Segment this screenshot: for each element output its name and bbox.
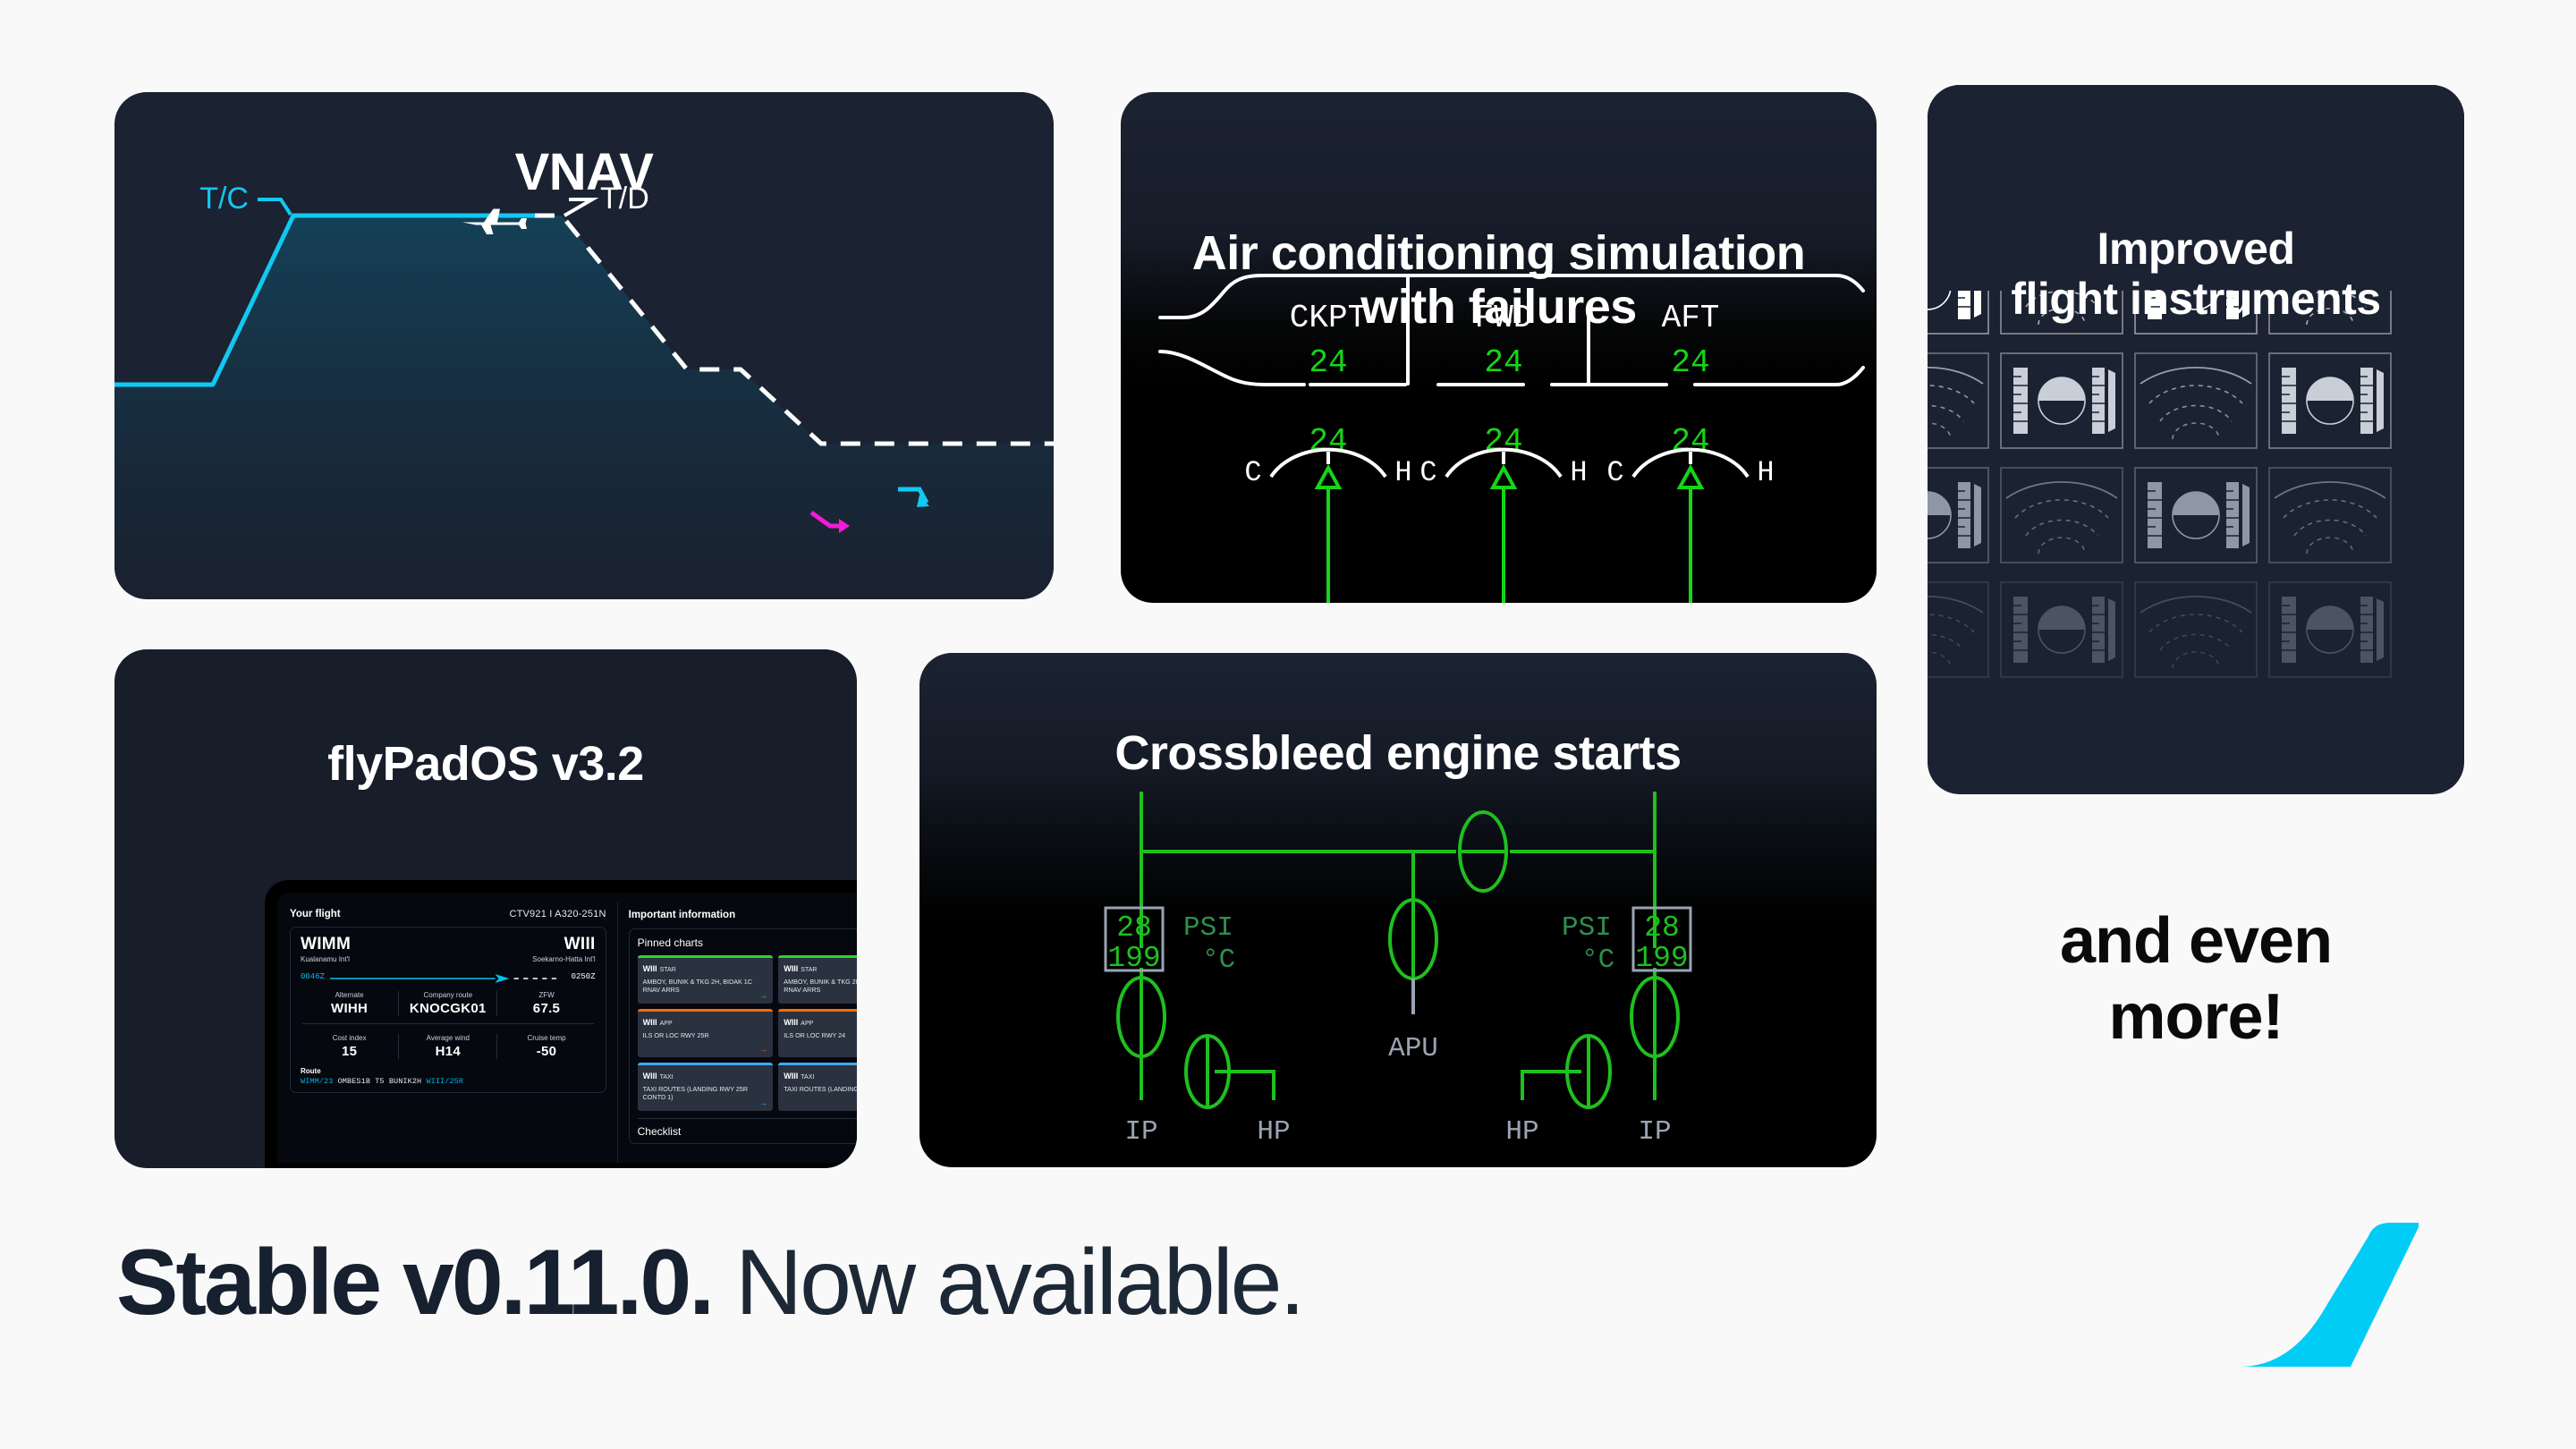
chart-color-bar bbox=[778, 1009, 857, 1012]
chart-card[interactable]: WIIIAPP ILS OR LOC RWY 24 → bbox=[778, 1009, 857, 1057]
route-part-destination: WIII/25R bbox=[426, 1077, 463, 1086]
unit-temp-left: °C bbox=[1202, 945, 1235, 976]
chart-description: TAXI ROUTES (LANDING RWY 24) bbox=[784, 1085, 857, 1093]
chart-icao: WIII bbox=[643, 964, 657, 973]
tablet-device: Your flight CTV921 I A320-251N WIMM Kual… bbox=[265, 880, 857, 1168]
vnav-area-fill bbox=[114, 216, 1054, 599]
chart-arrow-icon: → bbox=[759, 992, 767, 1000]
chart-icao: WIII bbox=[643, 1072, 657, 1080]
flybywire-tail-logo bbox=[2236, 1216, 2424, 1373]
chart-heading: WIIISTAR bbox=[643, 960, 768, 976]
card-flypad: flyPadOS v3.2 Your flight CTV921 I A320-… bbox=[114, 649, 857, 1168]
stat-cruise-temp: Cruise temp -50 bbox=[497, 1034, 595, 1059]
important-information-header: Important information ✎ bbox=[629, 909, 857, 921]
engine-bleed-valve-right bbox=[1631, 978, 1678, 1056]
chart-icao: WIII bbox=[784, 1072, 798, 1080]
stat-zfw-value: 67.5 bbox=[497, 1001, 595, 1016]
stat-zfw-label: ZFW bbox=[497, 991, 595, 999]
pinned-charts-header: Pinned charts View page bbox=[638, 936, 857, 949]
chart-icao: WIII bbox=[784, 1018, 798, 1027]
and-even-more-line2: more! bbox=[1928, 979, 2464, 1055]
stat-average-wind-value: H14 bbox=[399, 1044, 496, 1059]
chart-icao: WIII bbox=[643, 1018, 657, 1027]
chart-card[interactable]: WIIITAXI TAXI ROUTES (LANDING RWY 24) → bbox=[778, 1063, 857, 1111]
checklist-title: Checklist bbox=[638, 1125, 682, 1138]
checklist-header: Checklist View page bbox=[638, 1125, 857, 1138]
stat-cruise-temp-label: Cruise temp bbox=[497, 1034, 595, 1042]
stat-cruise-temp-value: -50 bbox=[497, 1044, 595, 1059]
apu-label: APU bbox=[1388, 1033, 1438, 1064]
chart-color-bar bbox=[638, 1063, 774, 1065]
progress-bar bbox=[330, 972, 566, 981]
tablet-screen: Your flight CTV921 I A320-251N WIMM Kual… bbox=[277, 893, 857, 1163]
flight-instruments-pattern bbox=[1928, 85, 2464, 794]
hot-label-ckpt: H bbox=[1394, 456, 1411, 489]
progress-bar-svg bbox=[330, 972, 566, 985]
zone-cabin-temp-aft: 24 bbox=[1671, 344, 1709, 381]
unit-psi-right: PSI bbox=[1562, 912, 1612, 944]
hot-label-fwd: H bbox=[1570, 456, 1587, 489]
chart-color-bar bbox=[638, 1009, 774, 1012]
checklist-divider bbox=[638, 1118, 857, 1119]
engine-bleed-valve-left bbox=[1118, 978, 1165, 1056]
stat-company-route: Company route KNOCGK01 bbox=[399, 991, 497, 1016]
card-vnav: T/C T/D VNAV bbox=[114, 92, 1054, 599]
flight-callsign-aircraft: CTV921 I A320-251N bbox=[509, 909, 606, 919]
stat-zfw: ZFW 67.5 bbox=[497, 991, 595, 1016]
bleed-temp-left: 199 bbox=[1107, 942, 1160, 975]
chart-color-bar bbox=[638, 955, 774, 958]
cold-label-fwd: C bbox=[1419, 456, 1436, 489]
crossbleed-valve-icon bbox=[1460, 812, 1506, 891]
card-crossbleed: Crossbleed engine starts bbox=[919, 653, 1877, 1167]
hot-label-aft: H bbox=[1757, 456, 1774, 489]
chart-heading: WIIITAXI bbox=[643, 1067, 768, 1083]
chart-type: APP bbox=[801, 1021, 813, 1027]
arrival-time: 0250Z bbox=[572, 972, 596, 981]
stat-alternate-label: Alternate bbox=[301, 991, 398, 999]
destination-airport: WIII Soekarno-Hatta Int'l bbox=[532, 936, 595, 963]
chart-heading: WIIISTAR bbox=[784, 960, 857, 976]
footer-headline: Stable v0.11.0. Now available. bbox=[116, 1230, 1302, 1336]
origin-name: Kualanamu Int'l bbox=[301, 955, 351, 963]
temp-selector-pointers bbox=[1318, 468, 1701, 603]
flypad-right-pane: Important information ✎ Pinned charts Vi… bbox=[618, 902, 857, 1163]
promo-poster: T/C T/D VNAV Air conditioning simulation… bbox=[0, 0, 2576, 1449]
zone-cabin-temp-ckpt: 24 bbox=[1309, 344, 1347, 381]
airport-row: WIMM Kualanamu Int'l WIII Soekarno-Hatta… bbox=[301, 936, 596, 963]
stats-divider bbox=[302, 1023, 594, 1024]
chart-description: AMBOY, BUNIK & TKG 2H, BIDAK 1C RNAV ARR… bbox=[643, 978, 768, 994]
stat-company-route-label: Company route bbox=[399, 991, 496, 999]
chart-card[interactable]: WIIISTAR AMBOY, BUNIK & TKG 2M, BIDAK 1B… bbox=[778, 955, 857, 1004]
route-value: WIMM/23 OMBES1B T5 BUNIK2H WIII/25R bbox=[301, 1077, 596, 1086]
chart-arrow-icon: → bbox=[759, 1046, 767, 1054]
chart-card[interactable]: WIIIAPP ILS OR LOC RWY 25R → bbox=[638, 1009, 774, 1057]
pinned-charts-grid: WIIISTAR AMBOY, BUNIK & TKG 2H, BIDAK 1C… bbox=[638, 955, 857, 1111]
hp-label-left: HP bbox=[1257, 1116, 1290, 1148]
footer-availability: Now available. bbox=[735, 1231, 1302, 1335]
chart-description: TAXI ROUTES (LANDING RWY 25R CONTD 1) bbox=[643, 1085, 768, 1101]
your-flight-header: Your flight CTV921 I A320-251N bbox=[290, 909, 606, 919]
card-flight-instruments-title: Improved flight instruments bbox=[1928, 224, 2464, 324]
card-air-conditioning: Air conditioning simulation with failure… bbox=[1121, 92, 1877, 603]
ip-label-right: IP bbox=[1638, 1116, 1671, 1148]
chart-type: TAXI bbox=[801, 1074, 814, 1080]
and-even-more-text: and even more! bbox=[1928, 903, 2464, 1055]
important-information-title: Important information bbox=[629, 910, 735, 920]
hp-label-right: HP bbox=[1505, 1116, 1538, 1148]
footer-version: Stable v0.11.0. bbox=[116, 1231, 712, 1335]
air-conditioning-ecam-page: CKPT 24 FWD 24 AFT 24 24 24 24 C H C H C… bbox=[1121, 92, 1877, 603]
chart-heading: WIIITAXI bbox=[784, 1067, 857, 1083]
stat-average-wind-label: Average wind bbox=[399, 1034, 496, 1042]
route-part-mid: OMBES1B T5 BUNIK2H bbox=[338, 1077, 422, 1086]
stat-company-route-value: KNOCGK01 bbox=[399, 1001, 496, 1016]
stat-cost-index-value: 15 bbox=[301, 1044, 398, 1059]
route-label: Route bbox=[301, 1067, 596, 1075]
and-even-more-line1: and even bbox=[1928, 903, 2464, 979]
bleed-psi-left: 28 bbox=[1116, 911, 1152, 945]
chart-description: ILS OR LOC RWY 24 bbox=[784, 1031, 857, 1039]
card-flight-instruments: Improved flight instruments bbox=[1928, 85, 2464, 794]
bleed-temp-right: 199 bbox=[1635, 942, 1688, 975]
apu-bleed-valve-icon bbox=[1390, 900, 1436, 979]
bleed-psi-right: 28 bbox=[1644, 911, 1680, 945]
ac-title-line2: with failures bbox=[1121, 280, 1877, 334]
destination-name: Soekarno-Hatta Int'l bbox=[532, 955, 595, 963]
stat-cost-index-label: Cost index bbox=[301, 1034, 398, 1042]
card-vnav-title: VNAV bbox=[114, 144, 1054, 202]
card-air-conditioning-title: Air conditioning simulation with failure… bbox=[1121, 226, 1877, 335]
chart-heading: WIIIAPP bbox=[784, 1013, 857, 1030]
flight-summary-box: WIMM Kualanamu Int'l WIII Soekarno-Hatta… bbox=[290, 927, 606, 1093]
pinned-charts-title: Pinned charts bbox=[638, 936, 703, 949]
origin-airport: WIMM Kualanamu Int'l bbox=[301, 936, 351, 963]
flypad-left-pane: Your flight CTV921 I A320-251N WIMM Kual… bbox=[277, 902, 618, 1163]
chart-arrow-icon: → bbox=[759, 1099, 767, 1107]
unit-temp-right: °C bbox=[1581, 945, 1614, 976]
chart-color-bar bbox=[778, 955, 857, 958]
fi-title-line2: flight instruments bbox=[1928, 274, 2464, 324]
cold-label-aft: C bbox=[1606, 456, 1623, 489]
flight-stats-row-2: Cost index 15 Average wind H14 Cruise te… bbox=[301, 1034, 596, 1059]
stat-alternate-value: WIHH bbox=[301, 1001, 398, 1016]
stat-average-wind: Average wind H14 bbox=[399, 1034, 497, 1059]
chart-heading: WIIIAPP bbox=[643, 1013, 768, 1030]
fi-title-line1: Improved bbox=[1928, 224, 2464, 274]
chart-type: STAR bbox=[801, 967, 817, 973]
destination-icao: WIII bbox=[532, 936, 595, 953]
flight-stats-row-1: Alternate WIHH Company route KNOCGK01 ZF… bbox=[301, 991, 596, 1016]
pinned-charts-panel: Pinned charts View page WIIISTAR AMBOY, … bbox=[629, 928, 857, 1144]
unit-psi-left: PSI bbox=[1183, 912, 1233, 944]
chart-type: STAR bbox=[660, 967, 676, 973]
departure-time: 0046Z bbox=[301, 972, 325, 981]
card-flypad-title: flyPadOS v3.2 bbox=[114, 737, 857, 791]
cold-label-ckpt: C bbox=[1244, 456, 1261, 489]
chart-card[interactable]: WIIISTAR AMBOY, BUNIK & TKG 2H, BIDAK 1C… bbox=[638, 955, 774, 1004]
chart-card[interactable]: WIIITAXI TAXI ROUTES (LANDING RWY 25R CO… bbox=[638, 1063, 774, 1111]
your-flight-title: Your flight bbox=[290, 909, 341, 919]
stat-alternate: Alternate WIHH bbox=[301, 991, 399, 1016]
stat-cost-index: Cost index 15 bbox=[301, 1034, 399, 1059]
chart-type: TAXI bbox=[660, 1074, 674, 1080]
ip-label-left: IP bbox=[1124, 1116, 1157, 1148]
ac-title-line1: Air conditioning simulation bbox=[1121, 226, 1877, 280]
origin-icao: WIMM bbox=[301, 936, 351, 953]
chart-type: APP bbox=[660, 1021, 673, 1027]
flight-progress-row: 0046Z 0250Z bbox=[301, 972, 596, 981]
chart-description: AMBOY, BUNIK & TKG 2M, BIDAK 1B RNAV ARR… bbox=[784, 978, 857, 994]
zone-cabin-temp-fwd: 24 bbox=[1484, 344, 1522, 381]
chart-color-bar bbox=[778, 1063, 857, 1065]
card-crossbleed-title: Crossbleed engine starts bbox=[919, 726, 1877, 780]
chart-icao: WIII bbox=[784, 964, 798, 973]
route-part-origin: WIMM/23 bbox=[301, 1077, 333, 1086]
chart-description: ILS OR LOC RWY 25R bbox=[643, 1031, 768, 1039]
